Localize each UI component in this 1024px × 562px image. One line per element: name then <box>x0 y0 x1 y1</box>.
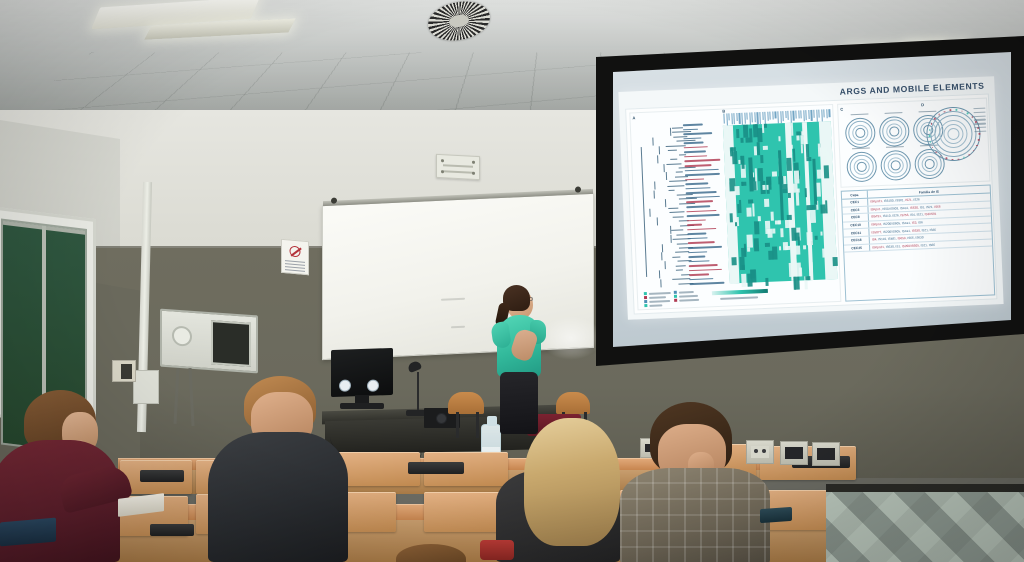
smartphone[interactable] <box>760 507 792 523</box>
speaker-cone-icon <box>436 413 447 424</box>
heatmap-legend <box>644 283 837 307</box>
panel-d-legend <box>973 108 986 135</box>
cell-cepa: CEC8 <box>843 214 869 222</box>
red-item <box>480 540 514 560</box>
cabinet-window <box>211 320 251 367</box>
floor-tiles <box>826 492 1024 562</box>
monitor-base <box>340 403 384 409</box>
bottle-cap <box>487 416 497 426</box>
cell-cepa: CEC10 <box>843 221 869 229</box>
no-smoking-icon <box>290 246 301 258</box>
panel-label-d: D <box>921 102 924 107</box>
desk-console[interactable] <box>408 462 464 474</box>
no-smoking-sign <box>281 239 309 275</box>
monitor[interactable] <box>331 348 393 397</box>
presenter-trousers <box>500 372 538 434</box>
attendee-polo-shirt <box>208 432 348 562</box>
cell-cepa: CEC3 <box>842 206 868 214</box>
wall-plaque <box>436 154 480 180</box>
projector-spill-light <box>540 316 602 360</box>
cell-cepa: CEC25 <box>844 244 870 252</box>
wooden-chair[interactable] <box>556 392 590 414</box>
conduit-junction-box <box>133 370 159 404</box>
cell-cepa: CEC11 <box>843 229 869 237</box>
power-socket[interactable] <box>746 440 774 464</box>
sticker-icon <box>339 379 351 391</box>
attendee-plaid-shirt <box>620 468 770 562</box>
phylogenetic-tree <box>638 125 689 287</box>
panel-a-b: A B <box>629 104 841 310</box>
electrical-cabinet[interactable] <box>160 309 258 374</box>
data-socket[interactable] <box>812 442 840 466</box>
wooden-chair[interactable] <box>448 392 484 414</box>
floor <box>826 492 1024 562</box>
desk-console[interactable] <box>150 524 194 536</box>
sticker-icon <box>367 379 379 391</box>
projection-screen: ARGS AND MOBILE ELEMENTS A B <box>613 52 1011 347</box>
microphone-stand <box>417 372 419 414</box>
panel-d: D <box>837 98 990 188</box>
column-header-cepa: Cepa <box>842 191 868 199</box>
presentation-slide: ARGS AND MOBILE ELEMENTS A B <box>618 76 1003 320</box>
tree-tip-labels <box>683 122 728 287</box>
slide-figure: A B C D <box>625 93 997 314</box>
cell-cepa: CEC1 <box>842 199 868 207</box>
attendee-hair <box>524 418 620 546</box>
laptop[interactable] <box>0 518 56 547</box>
light-switch[interactable] <box>112 360 136 382</box>
lecture-hall-scene: ARGS AND MOBILE ELEMENTS A B <box>0 0 1024 562</box>
is-family-table: Cepa Familia de IS CEC1ISKpn21, IS6100, … <box>841 184 996 301</box>
cell-cepa: CEC18 <box>844 237 870 245</box>
desk-console[interactable] <box>140 470 184 482</box>
gauge-icon <box>172 325 192 346</box>
data-socket[interactable] <box>780 441 808 465</box>
heatmap <box>723 121 838 283</box>
panel-label-a: A <box>632 115 635 120</box>
